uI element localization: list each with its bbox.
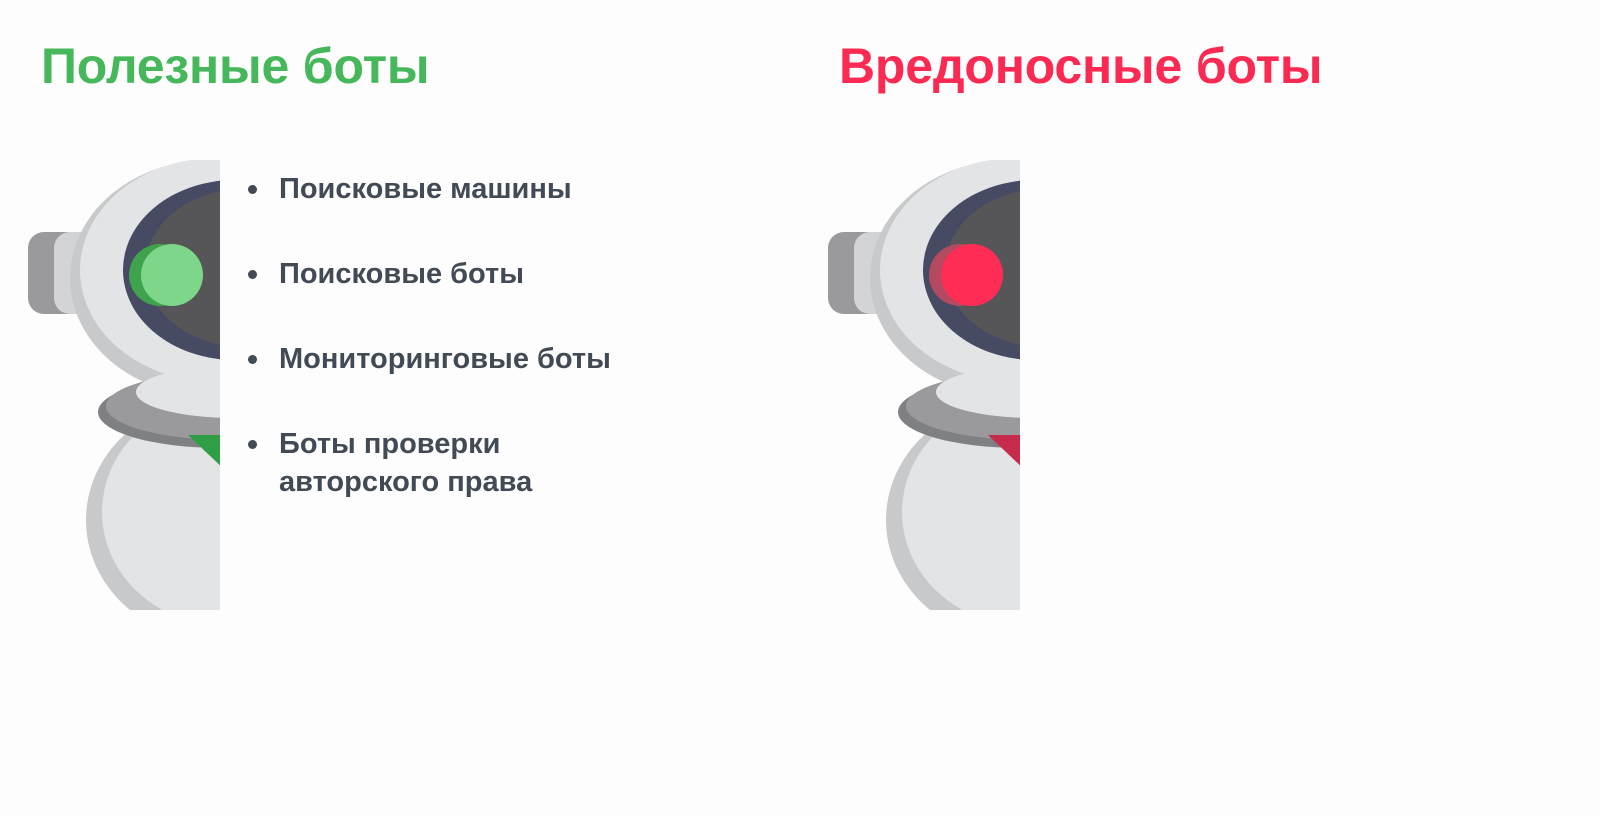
robot-eye-highlight bbox=[141, 244, 203, 306]
list-item: Боты проверки авторского права bbox=[248, 425, 768, 501]
robot-illustration-bad bbox=[820, 160, 1020, 610]
page-title-good-bots: Полезные боты bbox=[41, 41, 429, 91]
column-good-bots: Полезные боты bbox=[0, 0, 800, 815]
list-item-label: Поисковые боты bbox=[279, 255, 524, 293]
slide-root: Полезные боты bbox=[0, 0, 1600, 815]
bullet-dot-icon bbox=[248, 270, 257, 279]
bullet-dot-icon bbox=[248, 185, 257, 194]
robot-illustration-good bbox=[20, 160, 220, 610]
list-item: Поисковые машины bbox=[248, 170, 768, 208]
list-item-label: Мониторинговые боты bbox=[279, 340, 611, 378]
list-item: Мониторинговые боты bbox=[248, 340, 768, 378]
good-bots-list: Поисковые машины Поисковые боты Монитори… bbox=[248, 170, 768, 548]
robot-eye-highlight bbox=[941, 244, 1003, 306]
bullet-dot-icon bbox=[248, 440, 257, 449]
bullet-dot-icon bbox=[248, 355, 257, 364]
list-item-label: Поисковые машины bbox=[279, 170, 572, 208]
list-item: Поисковые боты bbox=[248, 255, 768, 293]
page-title-bad-bots: Вредоносные боты bbox=[839, 41, 1322, 91]
list-item-label: Боты проверки авторского права bbox=[279, 425, 532, 501]
column-bad-bots: Вредоносные боты bbox=[800, 0, 1600, 815]
